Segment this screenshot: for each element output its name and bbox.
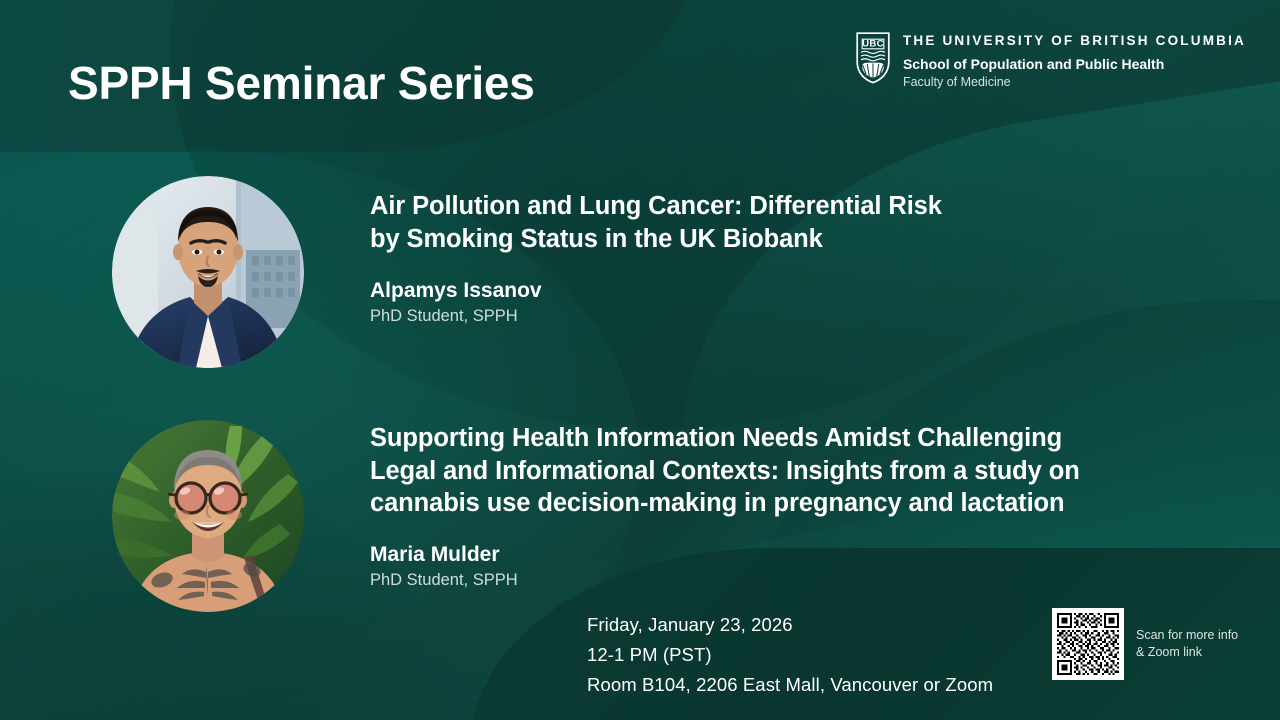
page-title: SPPH Seminar Series <box>68 56 535 110</box>
ubc-crest-icon: UBC <box>856 32 890 84</box>
ubc-faculty-name: Faculty of Medicine <box>903 75 1246 90</box>
talk-title-1-line2: by Smoking Status in the UK Biobank <box>370 223 942 256</box>
qr-section[interactable]: Scan for more info & Zoom link <box>1052 608 1238 680</box>
talk-title-2-line1: Supporting Health Information Needs Amid… <box>370 422 1080 455</box>
talk-title-2-line3: cannabis use decision-making in pregnanc… <box>370 487 1080 520</box>
talk-title-1-line1: Air Pollution and Lung Cancer: Different… <box>370 190 942 223</box>
qr-caption-line2: & Zoom link <box>1136 644 1238 661</box>
qr-caption-line1: Scan for more info <box>1136 627 1238 644</box>
event-location: Room B104, 2206 East Mall, Vancouver or … <box>587 670 993 700</box>
speaker-photo-maria-mulder <box>112 420 304 612</box>
event-date: Friday, January 23, 2026 <box>587 610 993 640</box>
seminar-poster: SPPH Seminar Series UBC THE UNIVERSITY O… <box>0 0 1280 720</box>
qr-code-icon[interactable] <box>1052 608 1124 680</box>
event-details: Friday, January 23, 2026 12-1 PM (PST) R… <box>587 610 993 700</box>
talk-title-1: Air Pollution and Lung Cancer: Different… <box>370 190 942 256</box>
talk-title-2-line2: Legal and Informational Contexts: Insigh… <box>370 455 1080 488</box>
talk-entry-2: Supporting Health Information Needs Amid… <box>112 420 1080 612</box>
ubc-logo-lockup: UBC THE UNIVERSITY OF BRITISH COLUMBIA S… <box>856 32 1246 90</box>
speaker-name-2: Maria Mulder <box>370 542 1080 567</box>
speaker-photo-alpamys-issanov <box>112 176 304 368</box>
event-time: 12-1 PM (PST) <box>587 640 993 670</box>
ubc-university-name: THE UNIVERSITY OF BRITISH COLUMBIA <box>903 34 1246 49</box>
speaker-role-2: PhD Student, SPPH <box>370 570 1080 591</box>
talk-entry-1: Air Pollution and Lung Cancer: Different… <box>112 176 942 368</box>
speaker-name-1: Alpamys Issanov <box>370 278 942 303</box>
speaker-role-1: PhD Student, SPPH <box>370 306 942 327</box>
talk-title-2: Supporting Health Information Needs Amid… <box>370 422 1080 520</box>
svg-text:UBC: UBC <box>862 39 884 50</box>
qr-caption: Scan for more info & Zoom link <box>1136 627 1238 661</box>
ubc-school-name: School of Population and Public Health <box>903 56 1246 72</box>
